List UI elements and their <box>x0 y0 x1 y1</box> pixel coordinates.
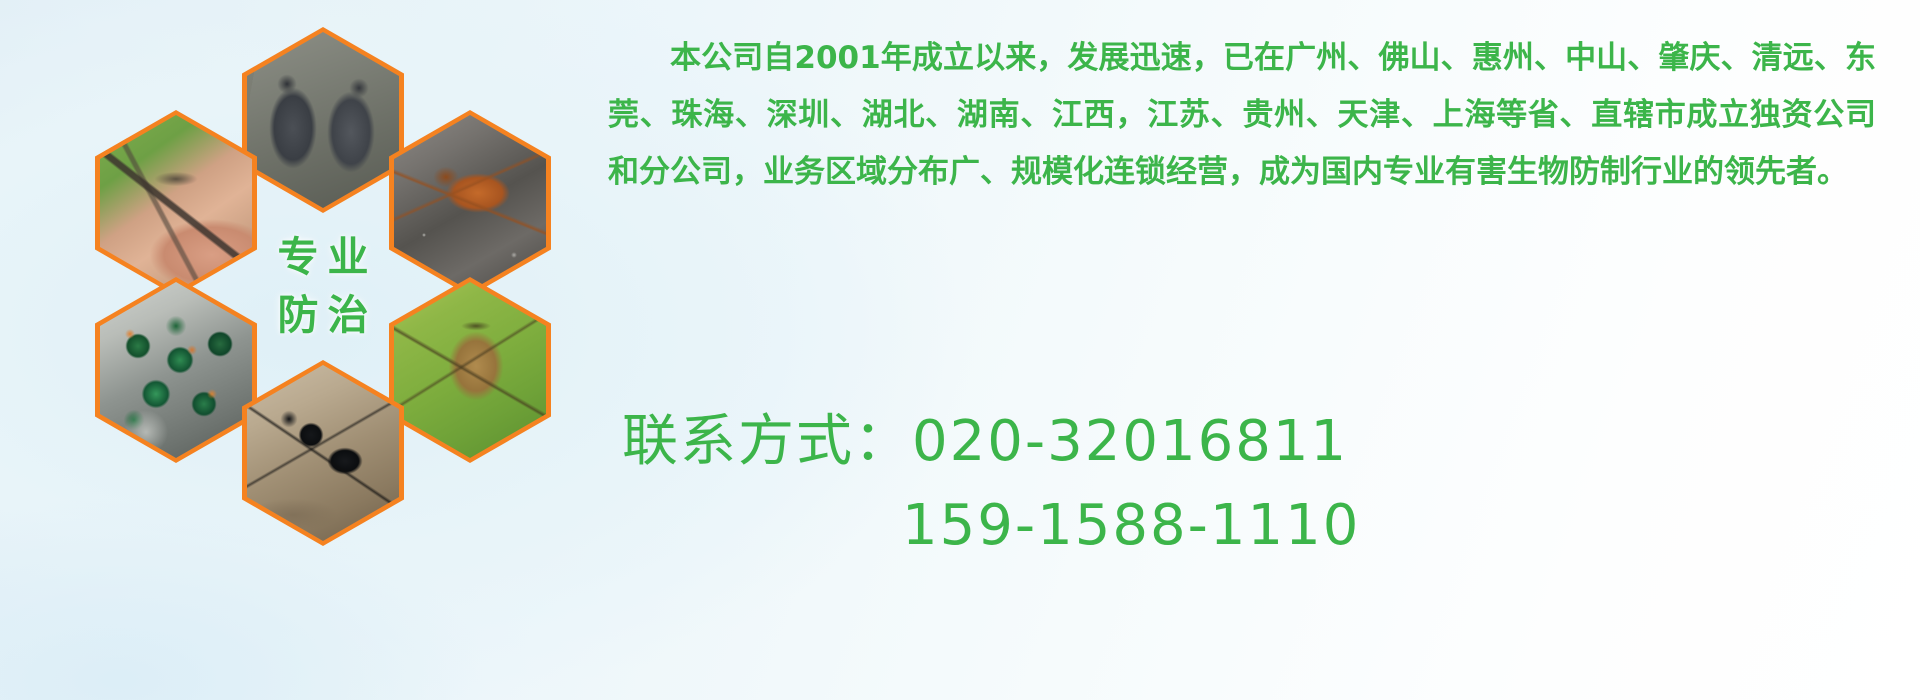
rats-photo <box>247 32 399 208</box>
intro-text-block: 本公司自2001年成立以来，发展迅速，已在广州、佛山、惠州、中山、肇庆、清远、东… <box>608 30 1876 201</box>
honeycomb-collage: 专业 防治 <box>95 5 595 565</box>
center-label-line-2: 防治 <box>269 286 378 344</box>
honeycomb-center-label: 专业 防治 <box>242 193 404 379</box>
hex-image-mosquito <box>100 115 252 291</box>
hex-cell-stink-bug <box>389 277 551 463</box>
hex-cell-rats <box>242 27 404 213</box>
company-intro-paragraph: 本公司自2001年成立以来，发展迅速，已在广州、佛山、惠州、中山、肇庆、清远、东… <box>608 30 1876 201</box>
hex-cell-flies <box>95 277 257 463</box>
cockroach-photo <box>394 115 546 291</box>
hex-image-stink-bug <box>394 282 546 458</box>
pest-control-banner: 专业 防治 本公司自2001年成立以来，发展迅速，已在广州、佛山、惠州、中山、肇… <box>0 0 1920 700</box>
contact-line-secondary[interactable]: 159-1588-1110 <box>612 484 1882 568</box>
hex-image-cockroach <box>394 115 546 291</box>
hex-cell-cockroach <box>389 110 551 296</box>
contact-block: 联系方式：020-32016811 159-1588-1110 <box>612 400 1882 568</box>
hex-cell-mosquito <box>95 110 257 296</box>
hex-image-flies <box>100 282 252 458</box>
hex-cell-ant <box>242 360 404 546</box>
hex-image-rats <box>247 32 399 208</box>
stink-bug-photo <box>394 282 546 458</box>
ant-photo <box>247 365 399 541</box>
contact-line-primary[interactable]: 联系方式：020-32016811 <box>612 400 1882 484</box>
hex-image-ant <box>247 365 399 541</box>
center-label-line-1: 专业 <box>269 228 378 286</box>
mosquito-photo <box>100 115 252 291</box>
flies-photo <box>100 282 252 458</box>
